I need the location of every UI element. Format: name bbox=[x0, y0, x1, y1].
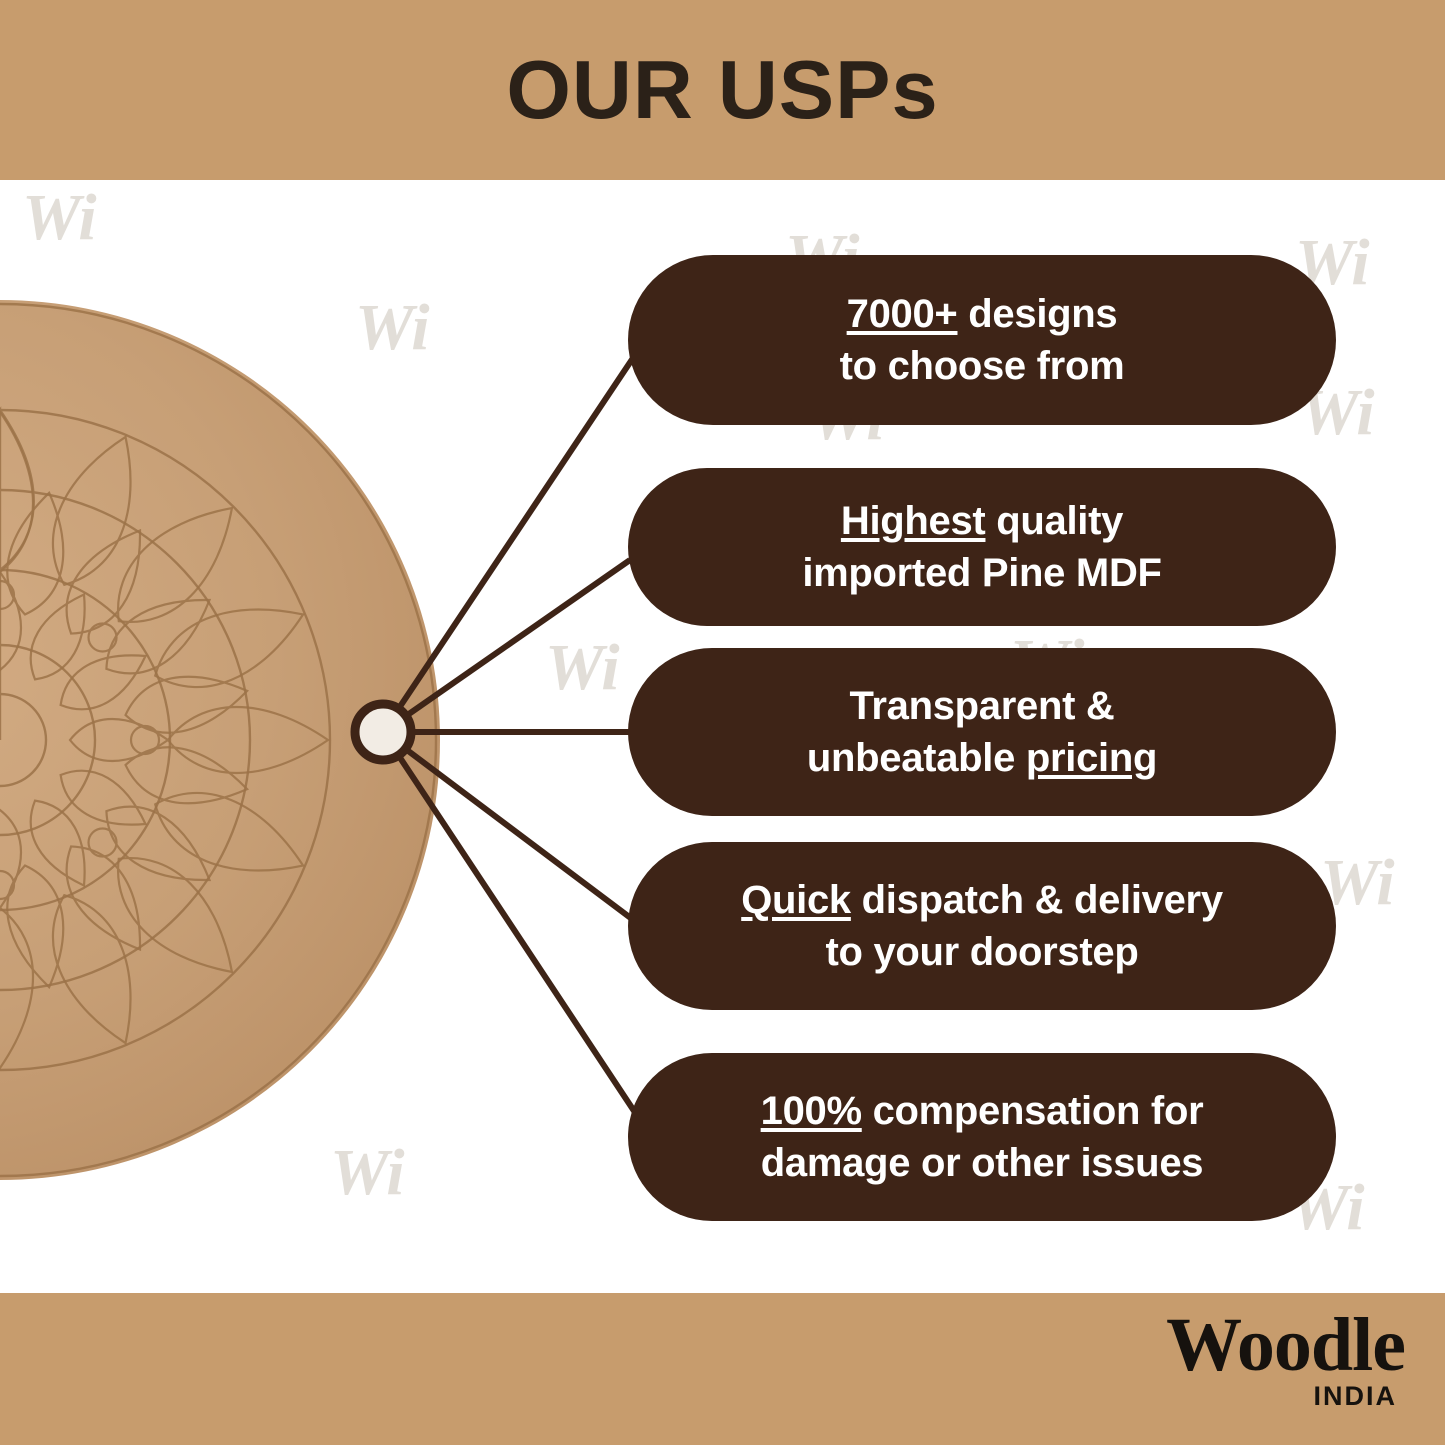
usp-card-pricing[interactable]: Transparent & unbeatable pricing bbox=[628, 648, 1336, 816]
usp-card-compensation[interactable]: 100% compensation for damage or other is… bbox=[628, 1053, 1336, 1221]
usp-line1-rest: quality bbox=[985, 499, 1123, 543]
usp-card-text: Transparent & unbeatable pricing bbox=[807, 680, 1157, 784]
body-area: Wi Wi Wi Wi Wi Wi Wi Wi Wi Wi Wi bbox=[0, 180, 1445, 1293]
usp-line1-rest: dispatch & delivery bbox=[851, 878, 1223, 922]
usp-highlight: pricing bbox=[1026, 736, 1157, 780]
usp-line1-rest: compensation for bbox=[862, 1089, 1204, 1133]
page-title: OUR USPs bbox=[0, 0, 1445, 180]
usp-line2: to choose from bbox=[840, 344, 1125, 388]
usp-highlight: Quick bbox=[741, 878, 851, 922]
usp-highlight: Highest bbox=[841, 499, 986, 543]
usp-highlight: 7000+ bbox=[847, 292, 958, 336]
usp-card-quality[interactable]: Highest quality imported Pine MDF bbox=[628, 468, 1336, 626]
usp-card-dispatch[interactable]: Quick dispatch & delivery to your doorst… bbox=[628, 842, 1336, 1010]
usp-line2: imported Pine MDF bbox=[802, 551, 1161, 595]
usp-card-text: Highest quality imported Pine MDF bbox=[802, 495, 1161, 599]
hub-node bbox=[355, 704, 411, 760]
usp-line1-rest: designs bbox=[957, 292, 1117, 336]
usp-card-text: 7000+ designs to choose from bbox=[840, 288, 1125, 392]
brand-name: Woodle bbox=[985, 1305, 1405, 1385]
usp-card-text: Quick dispatch & delivery to your doorst… bbox=[741, 874, 1223, 978]
usp-line2: to your doorstep bbox=[826, 930, 1139, 974]
usp-infographic: OUR USPs Wi Wi Wi Wi Wi Wi Wi Wi Wi Wi W… bbox=[0, 0, 1445, 1445]
usp-line2-rest: unbeatable bbox=[807, 736, 1026, 780]
usp-line2: damage or other issues bbox=[761, 1141, 1203, 1185]
brand-logo: Woodle INDIA bbox=[985, 1305, 1405, 1435]
usp-card-text: 100% compensation for damage or other is… bbox=[761, 1085, 1204, 1189]
usp-line1-rest: Transparent & bbox=[849, 684, 1114, 728]
usp-card-designs[interactable]: 7000+ designs to choose from bbox=[628, 255, 1336, 425]
usp-highlight: 100% bbox=[761, 1089, 862, 1133]
